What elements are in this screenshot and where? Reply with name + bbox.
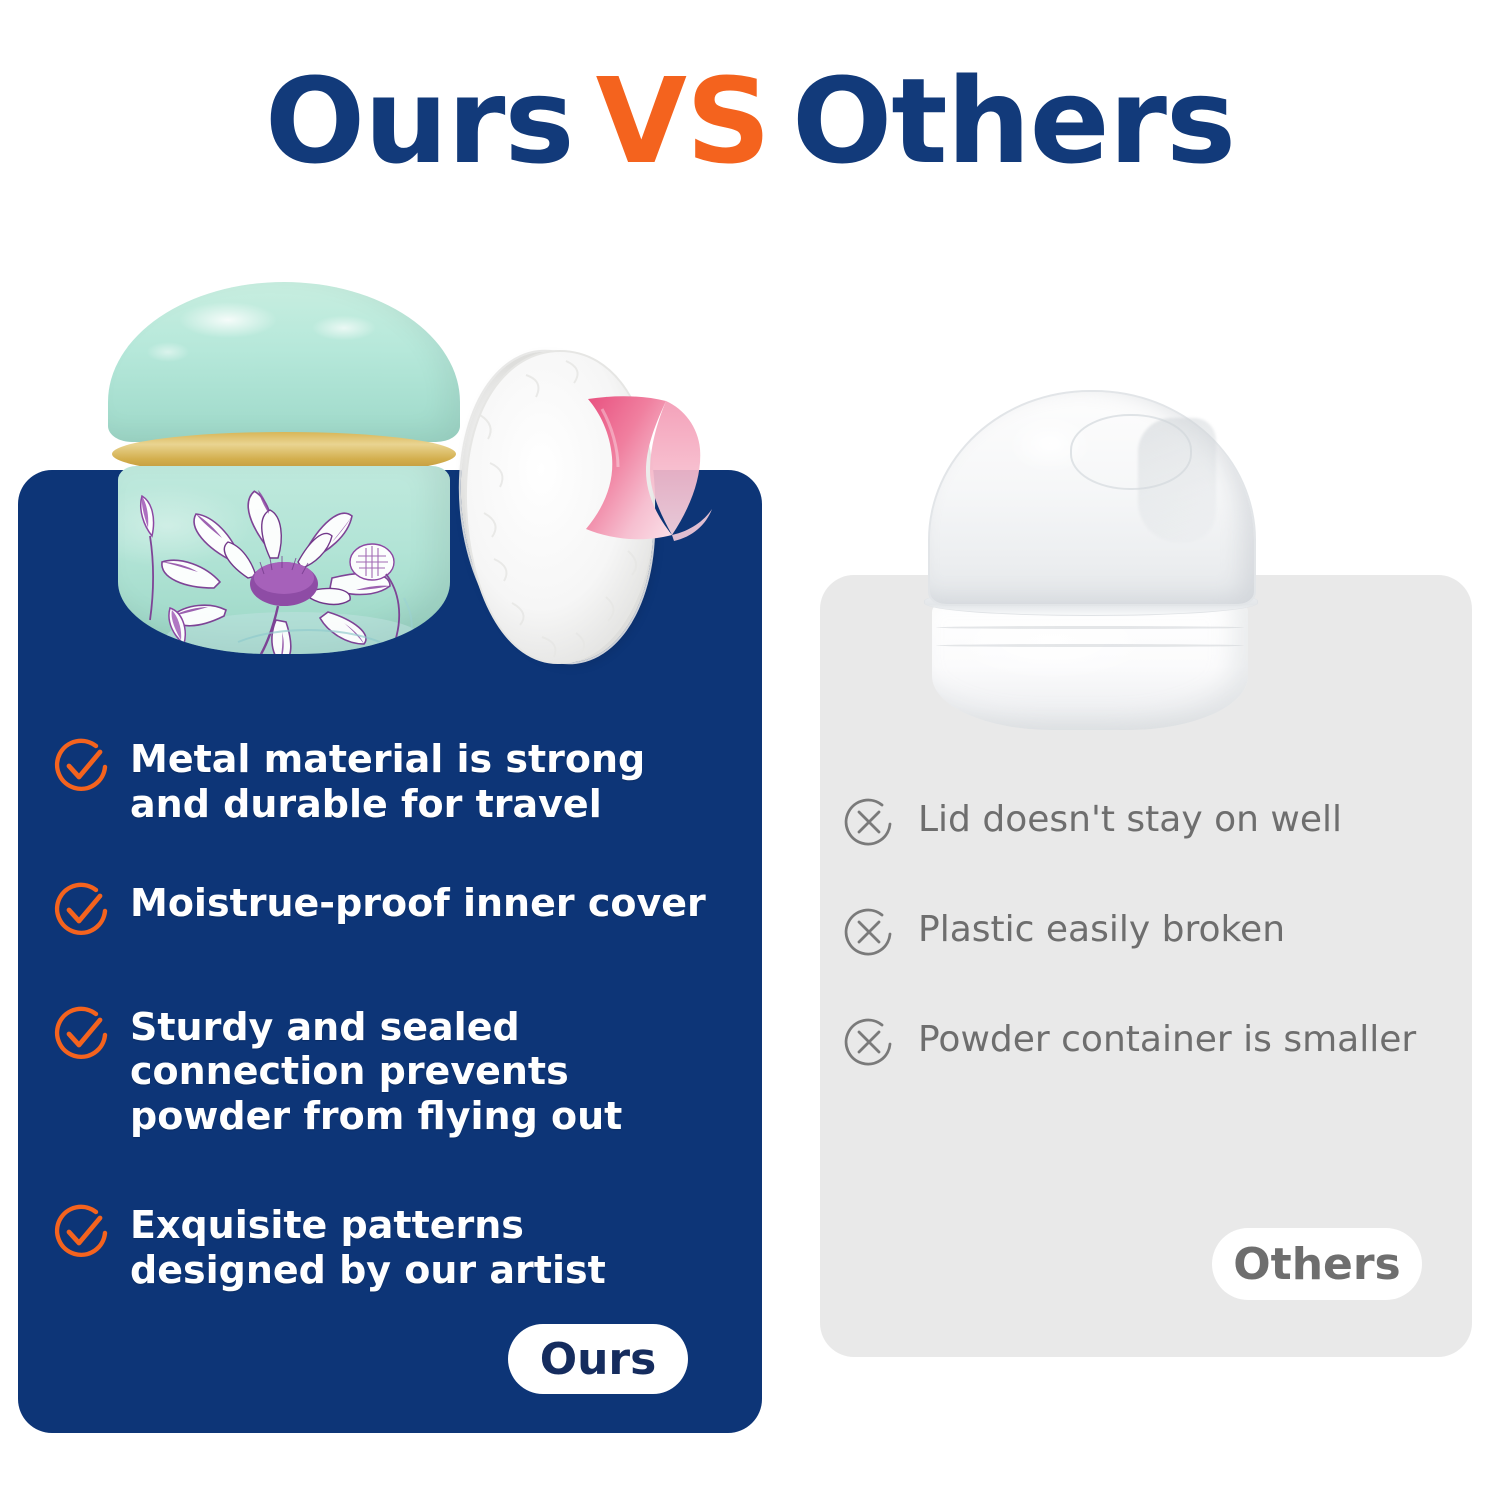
title-word-vs: VS [596,52,770,190]
page-title: OursVSOthers [0,60,1500,184]
x-circle-icon [842,905,896,959]
plastic-base [932,602,1248,730]
check-circle-icon [52,1201,112,1261]
check-circle-icon [52,1003,112,1063]
drawback-text: Plastic easily broken [918,905,1285,951]
product-image-ours-tin [108,282,460,654]
list-item: Lid doesn't stay on well [842,795,1462,849]
tin-body [118,466,450,654]
list-item: Exquisite patterns designed by our artis… [52,1201,752,1293]
drawback-text: Powder container is smaller [918,1015,1416,1061]
check-circle-icon [52,879,112,939]
lotus-pattern-icon [118,466,450,654]
feature-text: Sturdy and sealed connection prevents po… [130,1003,730,1139]
list-item: Plastic easily broken [842,905,1462,959]
others-badge: Others [1212,1228,1422,1300]
others-badge-label: Others [1233,1239,1401,1290]
product-image-powder-puff [462,345,712,670]
ours-badge: Ours [508,1324,688,1394]
puff-pink-handle [580,393,720,543]
title-word-others: Others [792,52,1235,190]
feature-text: Exquisite patterns designed by our artis… [130,1201,730,1293]
x-circle-icon [842,1015,896,1069]
plastic-dome-reflection [1138,418,1216,542]
plastic-clear-dome-lid [928,390,1256,606]
list-item: Moistrue-proof inner cover [52,879,752,939]
others-drawback-list: Lid doesn't stay on well Plastic easily … [842,795,1462,1069]
x-circle-icon [842,795,896,849]
comparison-infographic: OursVSOthers [0,0,1500,1500]
list-item: Sturdy and sealed connection prevents po… [52,1003,752,1139]
product-image-others-plastic-container [890,390,1290,730]
title-word-ours: Ours [265,52,574,190]
plastic-groove [936,626,1244,629]
feature-text: Metal material is strong and durable for… [130,735,730,827]
list-item: Metal material is strong and durable for… [52,735,752,827]
drawback-text: Lid doesn't stay on well [918,795,1342,841]
feature-text: Moistrue-proof inner cover [130,879,706,926]
ours-badge-label: Ours [540,1334,657,1385]
check-circle-icon [52,735,112,795]
plastic-groove [936,644,1244,647]
tin-lid [108,282,460,442]
ours-feature-list: Metal material is strong and durable for… [52,735,752,1293]
list-item: Powder container is smaller [842,1015,1462,1069]
